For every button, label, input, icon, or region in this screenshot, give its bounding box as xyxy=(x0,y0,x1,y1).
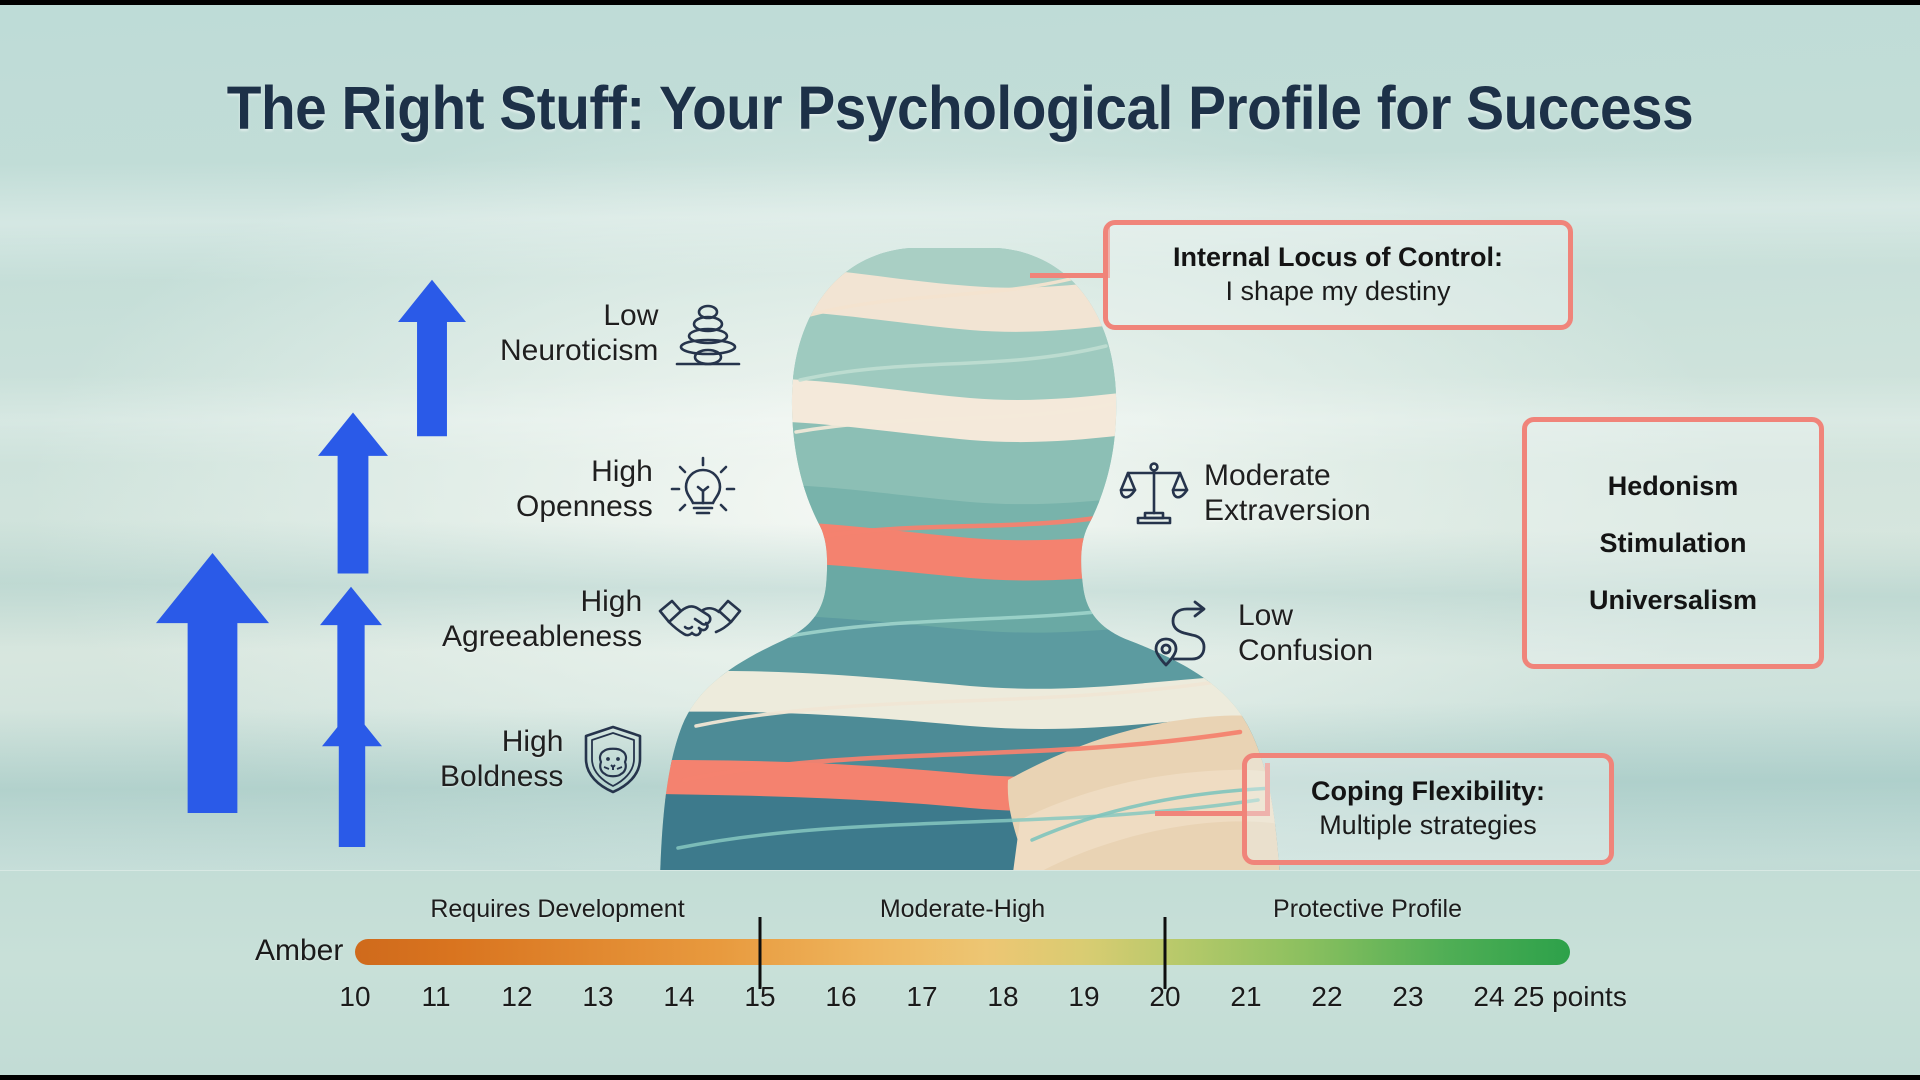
scale-tick-15 xyxy=(759,917,762,989)
handshake-icon xyxy=(656,583,744,655)
trait-label: Low Neuroticism xyxy=(500,298,658,369)
arrow-medium-upper xyxy=(318,411,388,575)
callout-internal-locus-of-control: Internal Locus of Control: I shape my de… xyxy=(1103,220,1573,330)
callout-subtitle: Multiple strategies xyxy=(1319,808,1537,843)
scale-zone-label: Protective Profile xyxy=(1273,895,1462,924)
value-item: Universalism xyxy=(1589,585,1757,616)
scale-number: 15 xyxy=(744,981,775,1013)
scale-number: 20 xyxy=(1149,981,1180,1013)
score-scale-panel: Amber Requires DevelopmentModerate-HighP… xyxy=(0,870,1920,1075)
scale-tick-20 xyxy=(1164,917,1167,989)
infographic-canvas: The Right Stuff: Your Psychological Prof… xyxy=(0,5,1920,1075)
trait-label: Low Confusion xyxy=(1238,598,1373,669)
scale-number: 21 xyxy=(1230,981,1261,1013)
trait-low-confusion: Low Confusion xyxy=(1152,597,1373,669)
scale-number: 16 xyxy=(825,981,856,1013)
scale-number: 23 xyxy=(1392,981,1423,1013)
scale-number: 18 xyxy=(987,981,1018,1013)
up-arrow-icon xyxy=(398,277,466,439)
stacked-stones-icon xyxy=(672,297,744,369)
scale-zone-label: Moderate-High xyxy=(880,895,1045,924)
page-title: The Right Stuff: Your Psychological Prof… xyxy=(67,73,1853,143)
trait-high-agreeableness: High Agreeableness xyxy=(442,583,744,655)
trait-label: High Openness xyxy=(516,454,653,525)
up-arrow-icon xyxy=(318,411,388,575)
scale-track[interactable]: Requires DevelopmentModerate-HighProtect… xyxy=(355,939,1570,965)
trait-high-boldness: High Boldness xyxy=(440,723,649,795)
up-arrow-icon xyxy=(322,707,382,849)
scale-axis-label: Amber xyxy=(255,934,343,968)
trait-label: High Boldness xyxy=(440,724,563,795)
lion-shield-icon xyxy=(577,723,649,795)
arrow-large xyxy=(155,553,270,813)
lightbulb-icon xyxy=(667,453,739,525)
value-item: Stimulation xyxy=(1600,528,1747,559)
scale-number: 10 xyxy=(339,981,370,1013)
trait-low-neuroticism: Low Neuroticism xyxy=(500,297,744,369)
trait-label: High Agreeableness xyxy=(442,584,642,655)
scale-gradient-bar xyxy=(355,939,1570,965)
winding-path-icon xyxy=(1152,597,1224,669)
scale-number: 11 xyxy=(421,981,450,1013)
callout-title: Coping Flexibility: xyxy=(1311,775,1545,809)
locus-leader-line-horizontal xyxy=(1030,273,1110,278)
arrow-small-low xyxy=(322,707,382,849)
trait-label: Moderate Extraversion xyxy=(1204,458,1371,529)
callout-subtitle: I shape my destiny xyxy=(1225,274,1450,309)
core-values-box: Hedonism Stimulation Universalism xyxy=(1522,417,1824,669)
scale-zone-label: Requires Development xyxy=(430,895,684,924)
scale-number: 12 xyxy=(501,981,532,1013)
scale-number: 19 xyxy=(1068,981,1099,1013)
trait-high-openness: High Openness xyxy=(516,453,739,525)
scale-number: 13 xyxy=(582,981,613,1013)
trait-moderate-extraversion: Moderate Extraversion xyxy=(1118,457,1371,529)
up-arrow-icon xyxy=(155,553,270,813)
arrow-medium-top xyxy=(398,277,466,439)
value-item: Hedonism xyxy=(1608,471,1739,502)
scale-number: 17 xyxy=(906,981,937,1013)
callout-coping-flexibility: Coping Flexibility: Multiple strategies xyxy=(1242,753,1614,865)
scale-number: 22 xyxy=(1311,981,1342,1013)
scale-number: 25 points xyxy=(1513,981,1627,1013)
scale-number: 14 xyxy=(663,981,694,1013)
callout-title: Internal Locus of Control: xyxy=(1173,241,1503,275)
balance-scales-icon xyxy=(1118,457,1190,529)
scale-number: 24 xyxy=(1473,981,1504,1013)
